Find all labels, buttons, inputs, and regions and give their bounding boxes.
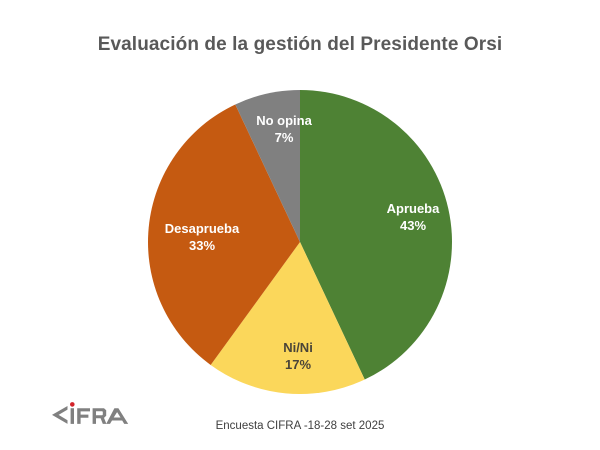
pie-chart-svg: [148, 90, 452, 394]
chart-slide: Evaluación de la gestión del Presidente …: [0, 0, 600, 450]
cifra-logo-icon: [50, 400, 134, 430]
pie-chart: [148, 90, 452, 394]
chart-title: Evaluación de la gestión del Presidente …: [0, 34, 600, 56]
cifra-logo: [50, 400, 134, 430]
cifra-logo-accent-dot: [70, 402, 75, 407]
